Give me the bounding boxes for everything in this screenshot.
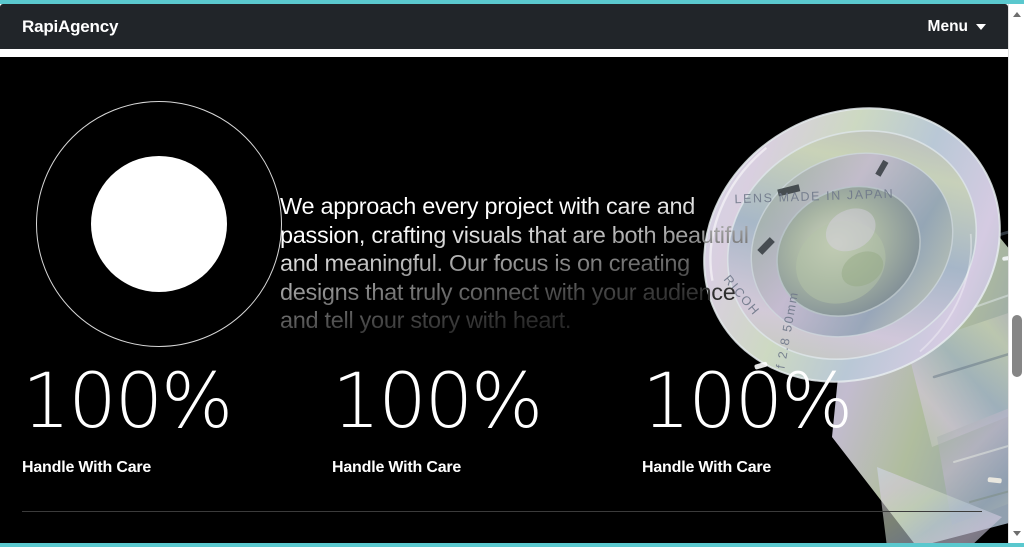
intro-paragraph: We approach every project with care and …	[280, 192, 750, 335]
circle-inner-dot	[91, 156, 227, 292]
stat-item: 100% Handle With Care	[642, 363, 952, 477]
top-navigation-bar: RapiAgency Menu	[0, 4, 1008, 49]
vertical-scrollbar[interactable]	[1008, 4, 1024, 543]
stat-label: Handle With Care	[332, 459, 642, 477]
stat-value: 100%	[332, 363, 642, 439]
page-canvas: RapiAgency Menu	[0, 4, 1008, 543]
browser-viewport: RapiAgency Menu	[0, 0, 1024, 547]
stats-row: 100% Handle With Care 100% Handle With C…	[22, 363, 982, 477]
stat-item: 100% Handle With Care	[332, 363, 642, 477]
menu-dropdown-toggle[interactable]: Menu	[928, 18, 986, 36]
chevron-down-icon	[976, 24, 986, 30]
menu-label: Menu	[928, 18, 968, 36]
scrollbar-thumb[interactable]	[1012, 315, 1022, 377]
scroll-down-arrow-icon[interactable]	[1009, 525, 1024, 541]
circle-graphic	[36, 101, 282, 347]
stat-label: Handle With Care	[22, 459, 332, 477]
stat-item: 100% Handle With Care	[22, 363, 332, 477]
scroll-up-arrow-icon[interactable]	[1009, 6, 1024, 22]
stat-value: 100%	[642, 363, 952, 439]
section-divider	[22, 511, 982, 512]
brand-logo[interactable]: RapiAgency	[22, 17, 118, 37]
stat-value: 100%	[22, 363, 332, 439]
svg-text:LENS MADE IN JAPAN: LENS MADE IN JAPAN	[734, 187, 894, 207]
hero-section: LENS MADE IN JAPAN RICOH f 2.8 50mm	[0, 57, 1008, 543]
stat-label: Handle With Care	[642, 459, 952, 477]
